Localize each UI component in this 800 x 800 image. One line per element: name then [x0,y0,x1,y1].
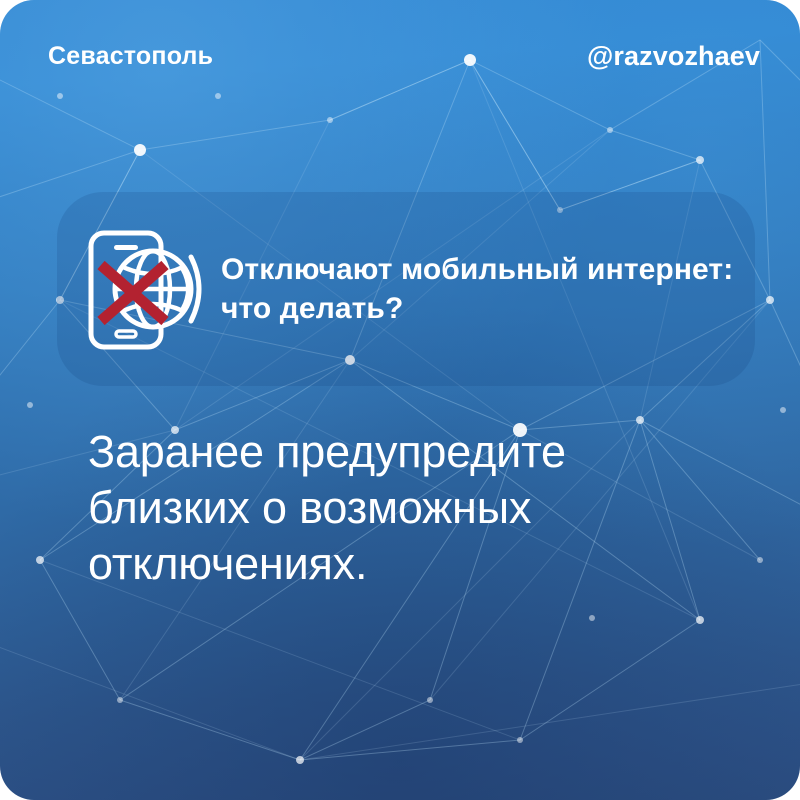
background-sheen [0,0,800,800]
city-label: Севастополь [48,42,213,71]
body-text: Заранее предупредите близких о возможных… [88,424,728,591]
social-handle[interactable]: @razvozhaev [587,41,760,72]
phone-globe-no-internet-icon [75,219,215,359]
headline-text: Отключают мобильный интернет: что делать… [221,250,741,328]
poster-canvas: Севастополь @razvozhaev [0,0,800,800]
headline-card: Отключают мобильный интернет: что делать… [57,192,755,386]
network-pattern [0,0,800,800]
header: Севастополь @razvozhaev [48,36,760,76]
